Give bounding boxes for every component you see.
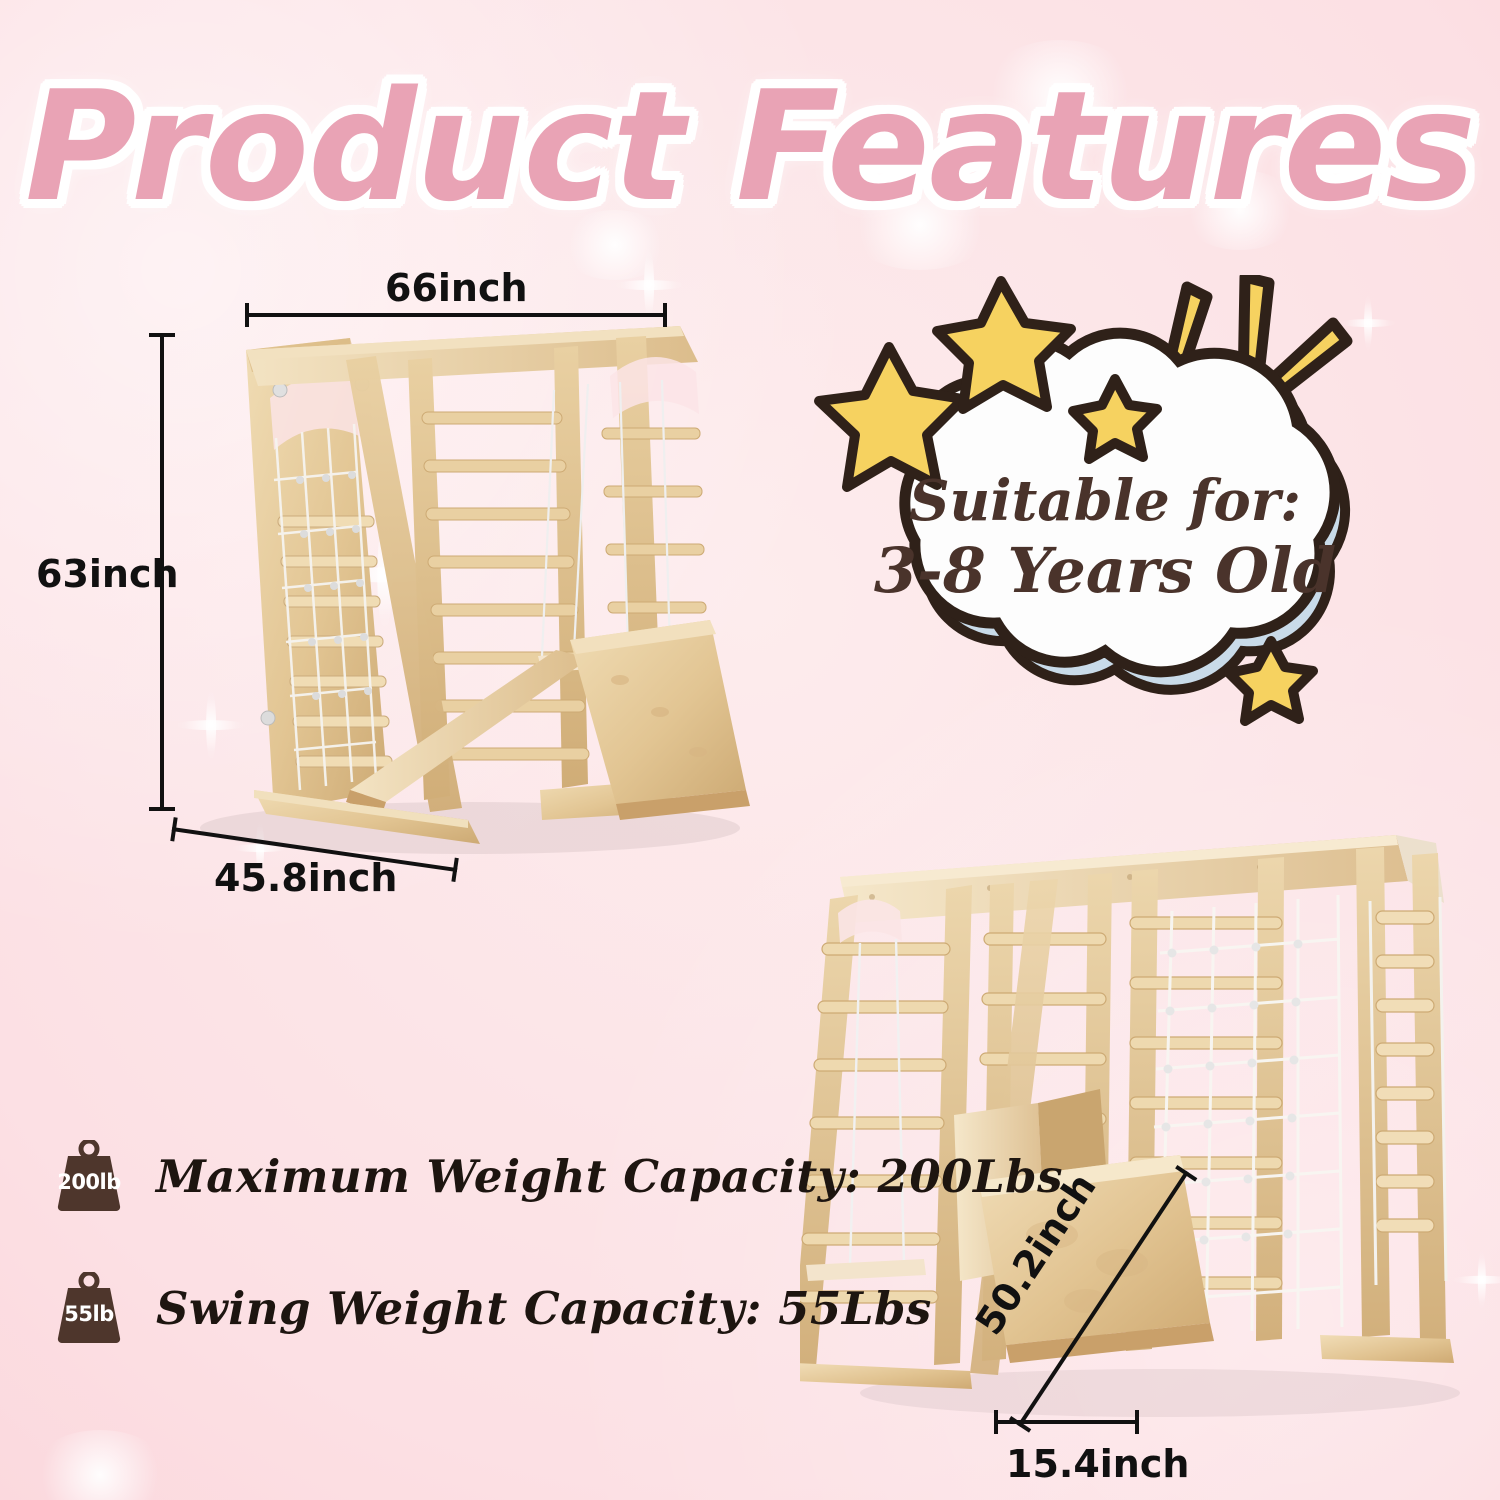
capacity-text-max-weight: Maximum Weight Capacity: 200Lbs [156, 1150, 1063, 1203]
capacity-row-swing-weight: 55lb Swing Weight Capacity: 55Lbs [50, 1272, 932, 1344]
suitable-for-callout [795, 275, 1395, 755]
product-features-page: Product Features [0, 0, 1500, 1500]
dimension-label-width: 66inch [385, 266, 528, 310]
dimension-line-width [245, 313, 667, 317]
weight-icon-label: 55lb [50, 1272, 128, 1344]
sparkle-decoration [30, 1430, 170, 1500]
dimension-line-slide-width [994, 1420, 1139, 1424]
dimension-label-depth: 45.8inch [214, 856, 397, 900]
product-image-front [150, 320, 770, 860]
weight-icon-label: 200lb [50, 1140, 128, 1212]
weight-icon: 55lb [50, 1272, 128, 1344]
page-title: Product Features [0, 58, 1500, 235]
dimension-label-slide-width: 15.4inch [1006, 1442, 1189, 1486]
capacity-row-max-weight: 200lb Maximum Weight Capacity: 200Lbs [50, 1140, 1063, 1212]
weight-icon: 200lb [50, 1140, 128, 1212]
dimension-label-height: 63inch [36, 552, 179, 596]
capacity-text-swing-weight: Swing Weight Capacity: 55Lbs [156, 1282, 932, 1335]
sparkle-star-icon [614, 250, 684, 320]
